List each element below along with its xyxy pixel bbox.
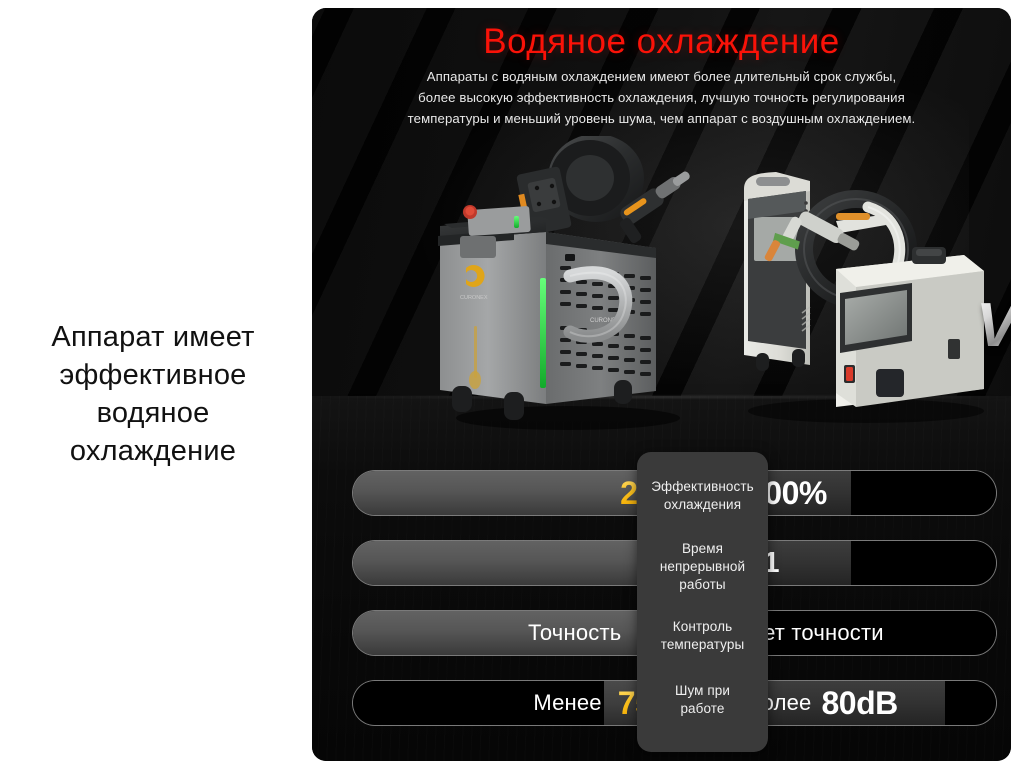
left-headline: Аппарат имеет эффективное водяное охлажд… [0,318,306,470]
water-cooled-machine-image: CURONEX [418,136,718,432]
comparison-table: 200% 100% ×2 ×1 [312,470,1011,732]
criteria-panel: Эффективность охлаждения Время непрерывн… [637,452,768,752]
vs-badge: VS [976,290,1011,361]
row1-right-bar: 100% [729,470,997,516]
poster-root: Аппарат имеет эффективное водяное охлажд… [0,0,1024,769]
row3-left-label: Точность [528,620,637,646]
product-comparison-card: Водяное охлаждение Аппараты с водяным ох… [312,8,1011,761]
row4-left-label: Менее [533,690,617,716]
card-subtitle: Аппараты с водяным охлаждением имеют бол… [348,66,975,129]
air-cooled-control-cabinet [836,247,984,407]
row3-right-bar: Нет точности [729,610,997,656]
row4-right-value: 80dB [822,685,898,722]
criterion-label: Эффективность охлаждения [641,478,764,514]
air-cooled-machines-image [736,163,988,425]
criterion-label: Время непрерывной работы [641,540,764,594]
welder-front-cabinet: CURONEX [438,205,550,404]
svg-text:CURONEX: CURONEX [460,295,488,301]
chiller-cabinet: CURONEX [546,232,656,404]
row2-right-bar: ×1 [729,540,997,586]
criterion-label: Контроль температуры [641,618,764,654]
criterion-label: Шум при работе [641,682,764,718]
row4-right-bar: Более 80dB [729,680,997,726]
card-title: Водяное охлаждение [312,22,1011,62]
